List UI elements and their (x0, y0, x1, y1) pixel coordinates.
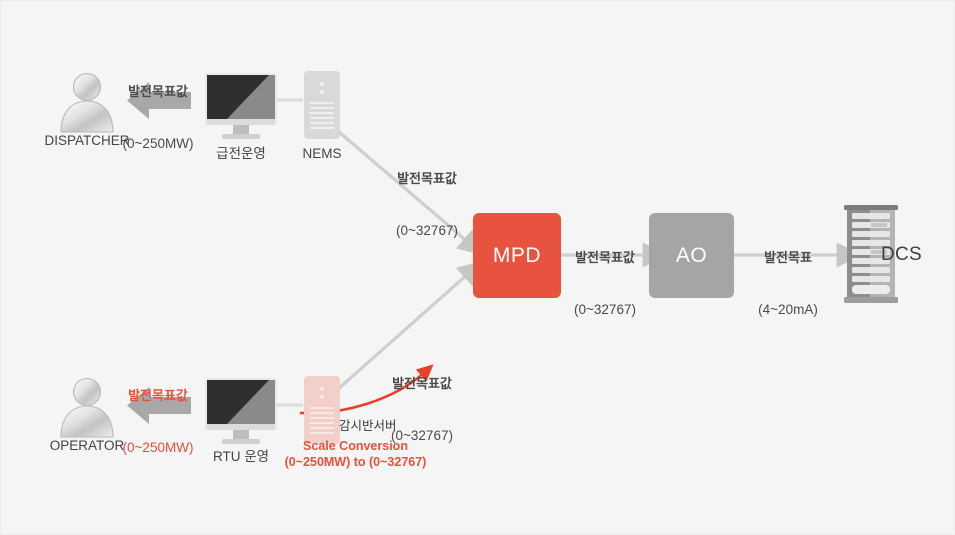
flow-label-dispatcher-line1: 발전목표값 (105, 83, 211, 100)
server-tower-icon (304, 376, 340, 444)
flow-label-ao-to-dcs: 발전목표 (4~20mA) (735, 215, 841, 353)
flow-label-server-to-mpd-line2: (0~32767) (369, 427, 475, 445)
process-box-mpd[interactable]: MPD (473, 213, 561, 298)
flow-label-operator: 발전목표값 (0~250MW) (105, 353, 211, 491)
diagram-canvas: MPD AO DISPATCHER 급전운영 NEMS DCS OPERATOR… (0, 0, 955, 535)
flow-label-dispatcher-line2: (0~250MW) (105, 135, 211, 153)
flow-label-server-to-mpd-line1: 발전목표값 (369, 375, 475, 392)
monitor-icon (205, 378, 277, 444)
flow-label-ao-to-dcs-line2: (4~20mA) (735, 301, 841, 319)
flow-label-nems-to-mpd-line1: 발전목표값 (374, 170, 480, 187)
process-box-mpd-label: MPD (493, 244, 541, 268)
label-nems: NEMS (282, 145, 362, 163)
process-box-ao-label: AO (676, 244, 707, 268)
flow-label-operator-line2: (0~250MW) (105, 439, 211, 457)
flow-label-ao-to-dcs-line1: 발전목표 (735, 249, 841, 266)
flow-label-dispatcher: 발전목표값 (0~250MW) (105, 49, 211, 187)
flow-label-mpd-to-ao-line1: 발전목표값 (552, 249, 658, 266)
flow-label-operator-line1: 발전목표값 (105, 387, 211, 404)
flow-label-nems-to-mpd: 발전목표값 (0~32767) (374, 136, 480, 274)
flow-label-mpd-to-ao: 발전목표값 (0~32767) (552, 215, 658, 353)
flow-label-server-to-mpd: 발전목표값 (0~32767) (369, 341, 475, 479)
process-box-ao[interactable]: AO (649, 213, 734, 298)
flow-label-nems-to-mpd-line2: (0~32767) (374, 222, 480, 240)
monitor-icon (205, 73, 277, 139)
flow-label-mpd-to-ao-line2: (0~32767) (552, 301, 658, 319)
server-tower-icon (304, 71, 340, 139)
label-dcs: DCS (881, 242, 951, 267)
